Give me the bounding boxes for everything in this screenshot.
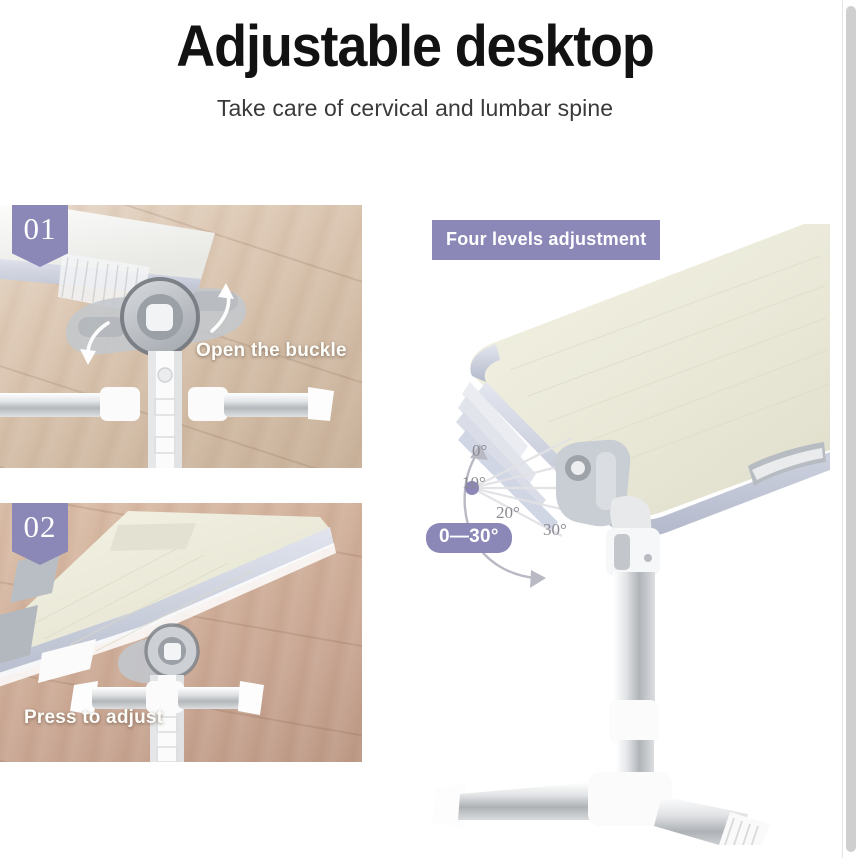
page-subtitle: Take care of cervical and lumbar spine [0,94,830,122]
lower-post [609,700,659,776]
angle-label-20: 20° [496,503,520,523]
feature-panel-one: 01 [0,205,362,468]
page-scrollbar[interactable] [842,0,858,858]
badge-angle-range: 0—30° [426,523,512,553]
page-title: Adjustable desktop [29,14,801,80]
banner-four-levels-adjustment: Four levels adjustment [432,220,660,260]
caption-open-the-buckle: Open the buckle [196,340,347,362]
page-header: Adjustable desktop Take care of cervical… [0,0,830,122]
angle-label-10: 10° [462,473,486,493]
product-feature-page: Adjustable desktop Take care of cervical… [0,0,858,858]
scrollbar-thumb[interactable] [846,6,856,852]
angle-label-30: 30° [543,520,567,540]
feature-panel-right: Four levels adjustment 0° 10° 20° 30° 0—… [400,200,830,845]
base-t-frame [432,772,770,845]
center-column [148,351,182,468]
angle-label-0: 0° [472,441,487,461]
caption-press-to-adjust: Press to adjust [24,707,163,729]
